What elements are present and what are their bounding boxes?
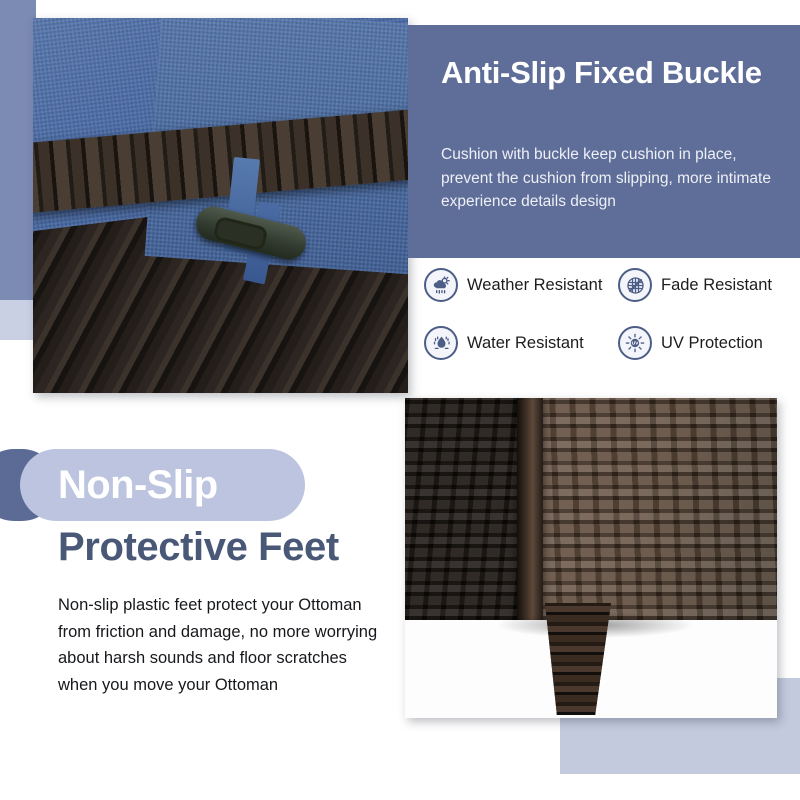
photo-wicker-corner-edge xyxy=(517,398,543,622)
photo-wicker-side-left xyxy=(405,398,525,620)
feature-label: Weather Resistant xyxy=(467,276,602,295)
protective-feet-heading: Protective Feet xyxy=(58,525,438,570)
feature-label: Fade Resistant xyxy=(661,276,772,295)
decor-band-top-left-light xyxy=(0,300,36,340)
anti-slip-panel: Anti-Slip Fixed Buckle Cushion with buck… xyxy=(408,25,800,258)
feature-water-resistant: Water Resistant xyxy=(424,326,584,360)
feature-badge-grid: Weather Resistant Fade Resistant xyxy=(420,262,800,390)
weather-cloud-rain-icon xyxy=(424,268,458,302)
protective-feet-body: Non-slip plastic feet protect your Ottom… xyxy=(58,592,388,699)
wicker-leg-photo xyxy=(405,398,777,718)
buckle-closeup-photo xyxy=(33,18,408,393)
feature-weather-resistant: Weather Resistant xyxy=(424,268,602,302)
feature-label: UV Protection xyxy=(661,334,763,353)
panel-subtext: Cushion with buckle keep cushion in plac… xyxy=(441,143,789,214)
uv-sun-icon: UV xyxy=(618,326,652,360)
feature-fade-resistant: Fade Resistant xyxy=(618,268,772,302)
non-slip-pill-label: Non-Slip xyxy=(58,449,308,521)
fade-grid-icon xyxy=(618,268,652,302)
feature-uv-protection: UV UV Protection xyxy=(618,326,763,360)
panel-headline: Anti-Slip Fixed Buckle xyxy=(441,53,771,92)
feature-label: Water Resistant xyxy=(467,334,584,353)
svg-text:UV: UV xyxy=(632,340,640,346)
decor-bottom-white-strip xyxy=(0,774,800,800)
product-infographic-page: Anti-Slip Fixed Buckle Cushion with buck… xyxy=(0,0,800,800)
photo-wicker-side-right xyxy=(537,398,777,620)
decor-band-top-left xyxy=(0,0,36,330)
water-droplet-icon xyxy=(424,326,458,360)
